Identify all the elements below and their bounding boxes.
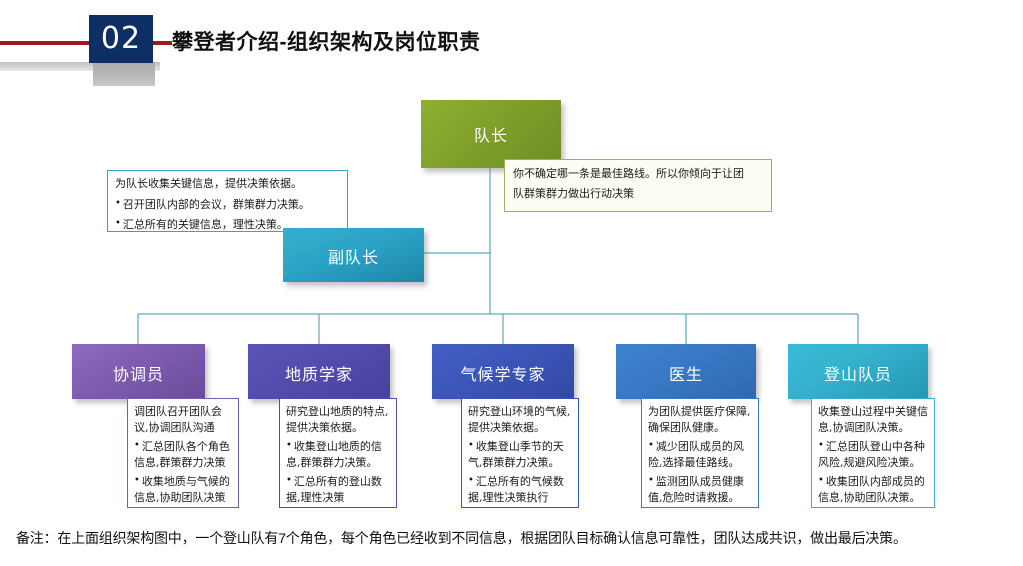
note-doctor-line-1: 减少团队成员的风险,选择最佳路线。	[648, 439, 752, 471]
note-leader: 你不确定哪一条是最佳路线。所以你倾向于让团 队群策群力做出行动决策	[504, 159, 772, 212]
node-climatologist-label: 气候学专家	[432, 361, 574, 385]
note-climber-line-1: 汇总团队登山中各种风险,规避风险决策。	[818, 439, 928, 471]
note-geologist: 研究登山地质的特点,提供决策依据。 收集登山地质的信息,群策群力决策。 汇总所有…	[279, 398, 397, 508]
note-geologist-line-1: 收集登山地质的信息,群策群力决策。	[286, 439, 390, 471]
node-coordinator[interactable]: 协调员	[72, 344, 205, 399]
note-geologist-line-2: 汇总所有的登山数据,理性决策	[286, 474, 390, 506]
note-deputy-line-0: 为队长收集关键信息，提供决策依据。	[115, 176, 340, 193]
node-leader[interactable]: 队长	[421, 100, 561, 168]
node-climatologist[interactable]: 气候学专家	[432, 344, 574, 399]
node-leader-label: 队长	[421, 122, 561, 146]
note-coordinator-line-0: 调团队召开团队会议,协调团队沟通	[134, 404, 232, 436]
note-coordinator: 调团队召开团队会议,协调团队沟通 汇总团队各个角色信息,群策群力决策 收集地质与…	[127, 398, 239, 508]
note-doctor-line-2: 监测团队成员健康值,危险时请救援。	[648, 474, 752, 506]
slide-canvas: 02 攀登者介绍-组织架构及岗位职责 队长 你不确定哪一条是最佳路线。所以你倾向…	[0, 0, 1023, 566]
note-deputy: 为队长收集关键信息，提供决策依据。 召开团队内部的会议，群策群力决策。 汇总所有…	[107, 170, 348, 232]
note-doctor-line-0: 为团队提供医疗保障,确保团队健康。	[648, 404, 752, 436]
node-deputy-label: 副队长	[283, 244, 424, 268]
note-coordinator-line-1: 汇总团队各个角色信息,群策群力决策	[134, 439, 232, 471]
note-leader-line-1: 队群策群力做出行动决策	[513, 186, 763, 203]
note-climatologist-line-2: 汇总所有的气候数据,理性决策执行	[468, 474, 572, 506]
node-climber-label: 登山队员	[788, 361, 928, 385]
footer-note: 备注：在上面组织架构图中，一个登山队有7个角色，每个角色已经收到不同信息，根据团…	[16, 528, 907, 548]
note-climber: 收集登山过程中关键信息,协调团队决策。 汇总团队登山中各种风险,规避风险决策。 …	[811, 398, 935, 508]
node-climber[interactable]: 登山队员	[788, 344, 928, 399]
node-geologist[interactable]: 地质学家	[248, 344, 390, 399]
node-geologist-label: 地质学家	[248, 361, 390, 385]
note-climber-line-0: 收集登山过程中关键信息,协调团队决策。	[818, 404, 928, 436]
node-doctor[interactable]: 医生	[616, 344, 756, 399]
note-climatologist: 研究登山环境的气候,提供决策依据。 收集登山季节的天气,群策群力决策。 汇总所有…	[461, 398, 579, 508]
note-deputy-line-1: 召开团队内部的会议，群策群力决策。	[115, 196, 340, 214]
note-climber-line-2: 收集团队内部成员的信息,协助团队决策。	[818, 474, 928, 506]
node-deputy[interactable]: 副队长	[283, 228, 424, 282]
note-geologist-line-0: 研究登山地质的特点,提供决策依据。	[286, 404, 390, 436]
section-number-badge: 02	[89, 15, 153, 63]
section-badge-reflection	[93, 62, 155, 86]
note-leader-line-0: 你不确定哪一条是最佳路线。所以你倾向于让团	[513, 166, 763, 183]
note-doctor: 为团队提供医疗保障,确保团队健康。 减少团队成员的风险,选择最佳路线。 监测团队…	[641, 398, 759, 508]
note-climatologist-line-1: 收集登山季节的天气,群策群力决策。	[468, 439, 572, 471]
page-title: 攀登者介绍-组织架构及岗位职责	[172, 26, 481, 56]
node-coordinator-label: 协调员	[72, 361, 205, 385]
header-rule-connector	[150, 41, 172, 45]
note-coordinator-line-2: 收集地质与气候的信息,协助团队决策	[134, 474, 232, 506]
note-climatologist-line-0: 研究登山环境的气候,提供决策依据。	[468, 404, 572, 436]
node-doctor-label: 医生	[616, 361, 756, 385]
